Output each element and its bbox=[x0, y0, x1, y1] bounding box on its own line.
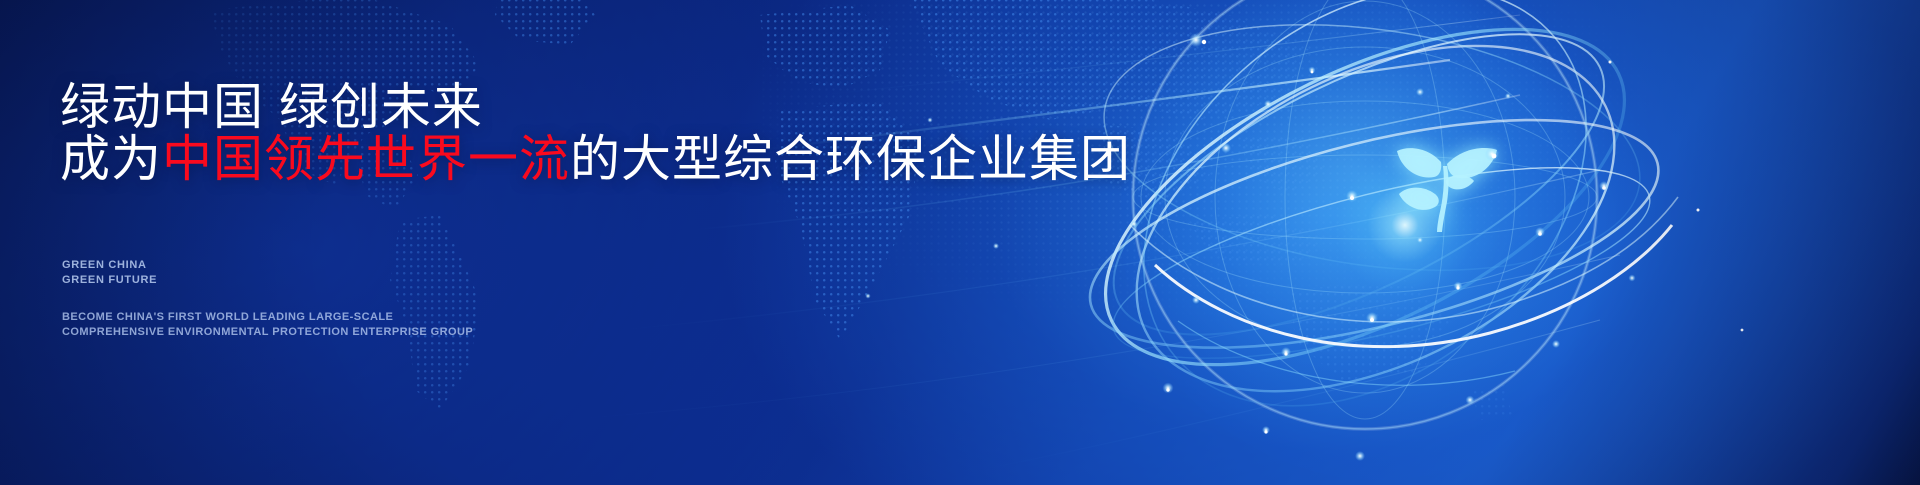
headline-line-2-highlight: 中国领先世界一流 bbox=[162, 131, 570, 187]
headline-line-2-suffix: 的大型综合环保企业集团 bbox=[570, 131, 1131, 187]
subline-block: BECOME CHINA'S FIRST WORLD LEADING LARGE… bbox=[62, 310, 473, 339]
wireframe-globe bbox=[1060, 0, 1680, 485]
tagline-line-2: GREEN FUTURE bbox=[62, 273, 157, 288]
globe-glow bbox=[1120, 0, 1640, 480]
headline-line-2-prefix: 成为 bbox=[60, 131, 162, 187]
headline-line-1: 绿动中国 绿创未来 bbox=[60, 78, 483, 136]
sprout-seedling-icon bbox=[1385, 128, 1505, 238]
center-light-flare bbox=[1310, 130, 1500, 320]
text-content: 绿动中国 绿创未来 成为中国领先世界一流的大型综合环保企业集团 GREEN CH… bbox=[60, 0, 1060, 485]
headline-line-2: 成为中国领先世界一流的大型综合环保企业集团 bbox=[60, 130, 1131, 188]
tagline-block: GREEN CHINA GREEN FUTURE bbox=[62, 258, 157, 288]
subline-line-2: COMPREHENSIVE ENVIRONMENTAL PROTECTION E… bbox=[62, 325, 473, 340]
banner-root: 绿动中国 绿创未来 成为中国领先世界一流的大型综合环保企业集团 GREEN CH… bbox=[0, 0, 1920, 485]
tagline-line-1: GREEN CHINA bbox=[62, 258, 157, 273]
subline-line-1: BECOME CHINA'S FIRST WORLD LEADING LARGE… bbox=[62, 310, 473, 325]
